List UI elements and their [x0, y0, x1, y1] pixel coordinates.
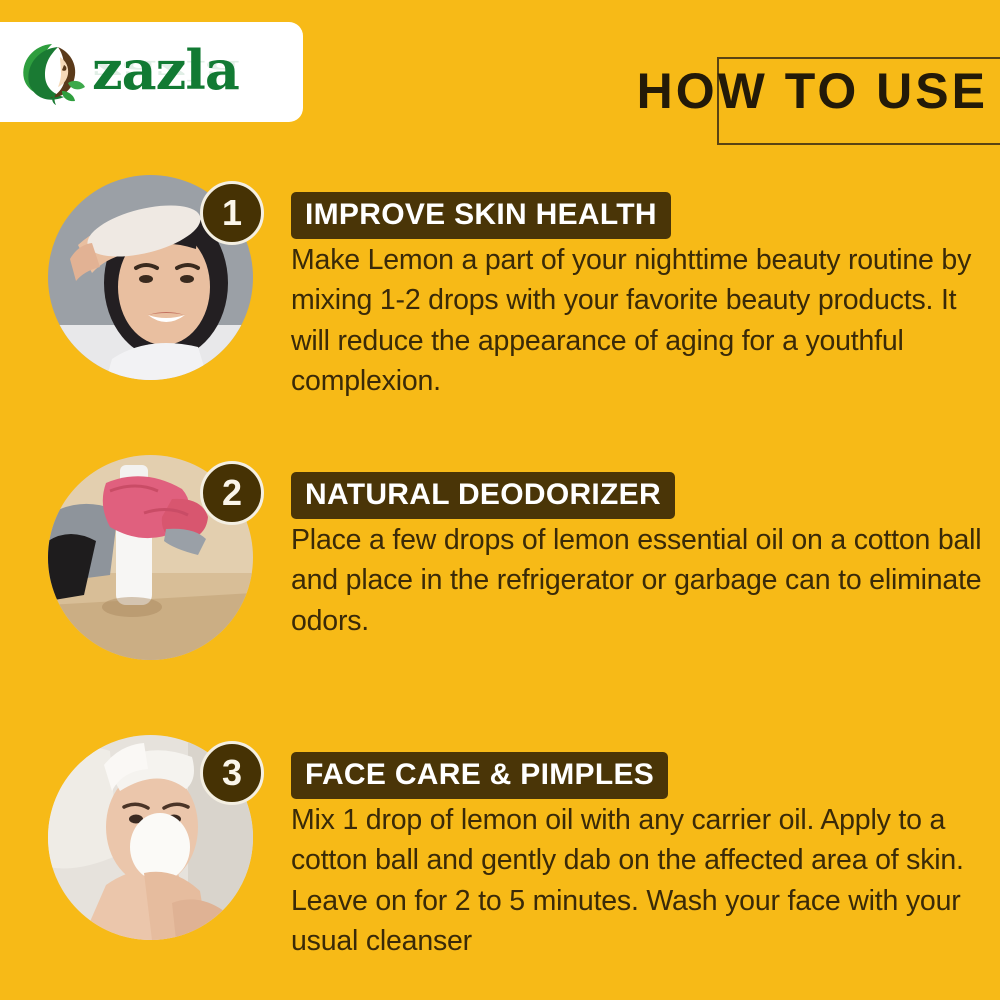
step-title-3: FACE CARE & PIMPLES [291, 752, 668, 799]
step-body-2: Place a few drops of lemon essential oil… [291, 520, 991, 641]
step-number-badge-2: 2 [200, 461, 264, 525]
leaf-face-logo-icon [14, 35, 88, 109]
step-title-2: NATURAL DEODORIZER [291, 472, 675, 519]
step-body-1: Make Lemon a part of your nighttime beau… [291, 240, 991, 402]
step-title-1: IMPROVE SKIN HEALTH [291, 192, 671, 239]
step-body-3: Mix 1 drop of lemon oil with any carrier… [291, 800, 993, 962]
brand-logo-box: zazla zazla [0, 22, 303, 122]
infographic-page: zazla zazla HOW TO USE [0, 0, 1000, 1000]
brand-wordmark-reflection: zazla [92, 57, 239, 84]
step-number-badge-1: 1 [200, 181, 264, 245]
step-number-badge-3: 3 [200, 741, 264, 805]
page-title: HOW TO USE [596, 66, 988, 116]
